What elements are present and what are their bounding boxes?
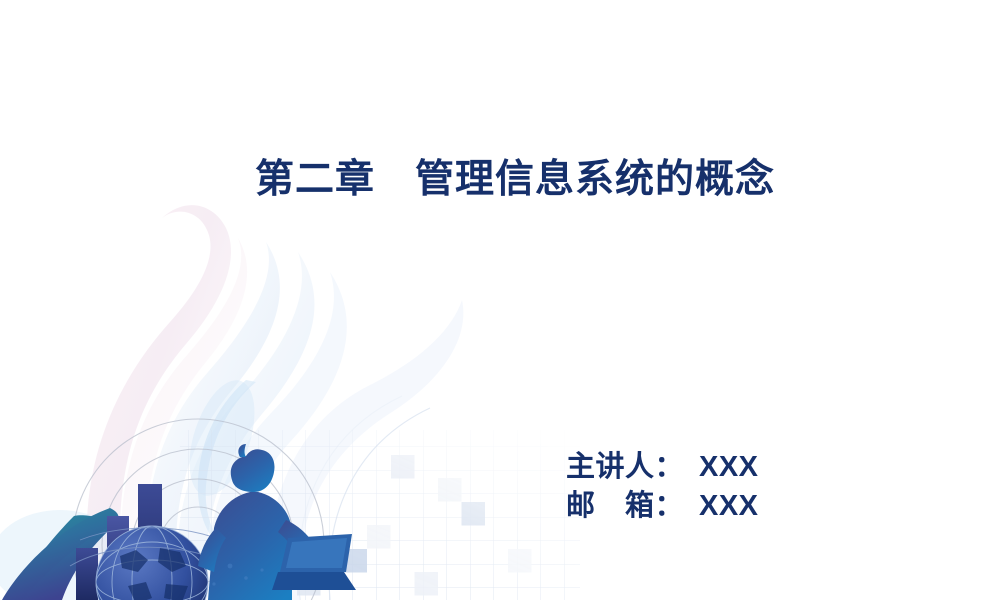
bar-chart-graphic xyxy=(76,484,162,600)
blue-wisp-graphic xyxy=(0,372,267,600)
ribbon-swirl-graphic xyxy=(87,205,347,600)
teal-crescent-graphic xyxy=(2,508,119,600)
presenter-email-line: 邮 箱： XXX xyxy=(566,487,759,526)
concentric-rings-graphic xyxy=(72,419,324,600)
globe-graphic xyxy=(70,526,256,600)
slide-decoration-artwork xyxy=(0,0,1000,600)
person-silhouette-graphic xyxy=(198,444,356,600)
presentation-slide: 第二章 管理信息系统的概念 主讲人： XXX 邮 箱： XXX xyxy=(0,0,1000,600)
square-grid-graphic xyxy=(180,430,580,600)
glow-dots-graphic xyxy=(212,564,263,586)
presenter-info-block: 主讲人： XXX 邮 箱： XXX xyxy=(566,448,759,526)
soft-arc-graphic xyxy=(298,396,430,600)
presenter-speaker-line: 主讲人： XXX xyxy=(566,448,759,487)
slide-title: 第二章 管理信息系统的概念 xyxy=(255,148,775,204)
